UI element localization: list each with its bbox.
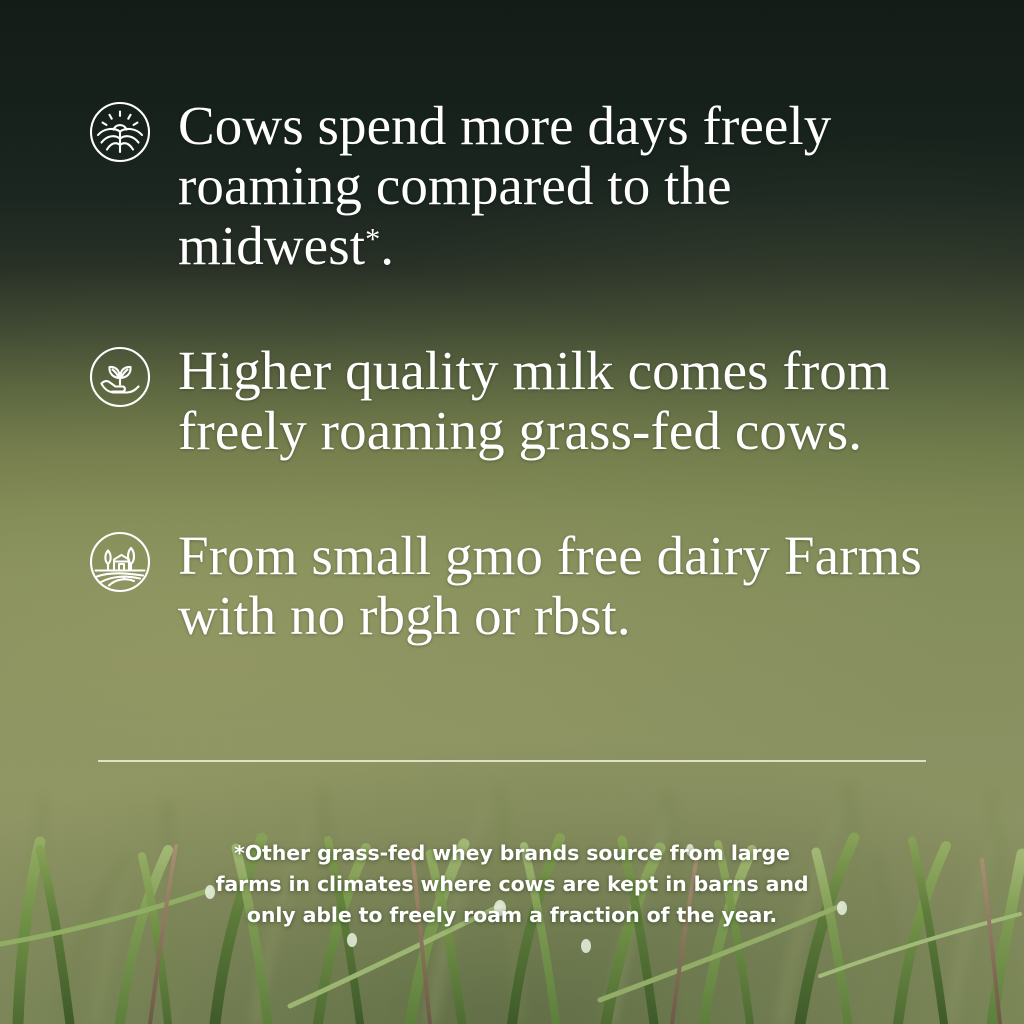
footnote-line-1: *Other grass-fed whey brands source from…	[0, 838, 1024, 869]
content-layer: Cows spend more days freely roaming comp…	[0, 0, 1024, 1024]
footnote: *Other grass-fed whey brands source from…	[0, 838, 1024, 931]
footnote-line-3: only able to freely roam a fraction of t…	[0, 900, 1024, 931]
benefit-item-2: Higher quality milk comes from freely ro…	[88, 341, 984, 461]
footnote-line-2: farms in climates where cows are kept in…	[0, 869, 1024, 900]
benefit-item-1: Cows spend more days freely roaming comp…	[88, 96, 984, 276]
hand-holding-plant-icon	[88, 345, 152, 409]
benefit-item-3: From small gmo free dairy Farms with no …	[88, 526, 984, 646]
promo-graphic: Cows spend more days freely roaming comp…	[0, 0, 1024, 1024]
benefit-text-2: Higher quality milk comes from freely ro…	[178, 341, 984, 461]
benefit-text-3: From small gmo free dairy Farms with no …	[178, 526, 984, 646]
benefit-text-1: Cows spend more days freely roaming comp…	[178, 96, 918, 276]
benefit-1-asterisk: *	[365, 222, 380, 256]
divider	[98, 760, 926, 762]
sun-over-fields-icon	[88, 100, 152, 164]
benefit-1-main: Cows spend more days freely roaming comp…	[178, 95, 831, 276]
benefit-1-period: .	[380, 215, 394, 276]
farm-barn-trees-icon	[88, 530, 152, 594]
